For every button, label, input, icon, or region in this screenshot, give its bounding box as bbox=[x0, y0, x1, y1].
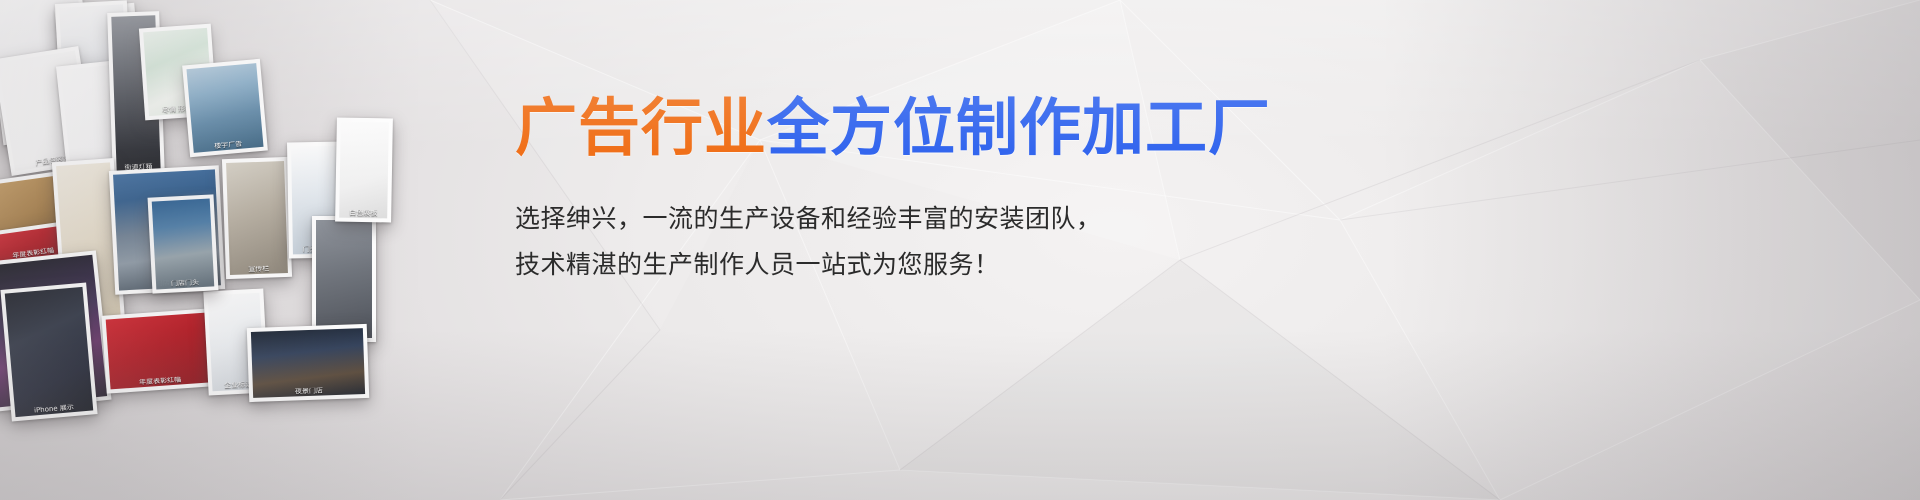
collage-photo-image bbox=[339, 122, 389, 219]
collage-photo: 年度表彰红幅 bbox=[101, 308, 214, 393]
collage-photo: 楼宇广告 bbox=[182, 59, 268, 157]
subtitle-line-1: 选择绅兴，一流的生产设备和经验丰富的安装团队， bbox=[515, 196, 1415, 242]
collage-photo-image bbox=[152, 199, 215, 290]
banner-subtitle: 选择绅兴，一流的生产设备和经验丰富的安装团队， 技术精湛的生产制作人员一站式为您… bbox=[515, 196, 1415, 289]
advertising-sample-photo-collage: 汽车 A6L 画册 汽车宣传册 A6L 精装版 产品包装盒 产品包装盒 街道灯箱… bbox=[0, 0, 430, 500]
collage-photo: 白色展板 bbox=[335, 118, 393, 223]
banner-copy: 广告行业全方位制作加工厂 选择绅兴，一流的生产设备和经验丰富的安装团队， 技术精… bbox=[515, 95, 1415, 288]
subtitle-line-2: 技术精湛的生产制作人员一站式为您服务！ bbox=[515, 242, 1415, 288]
headline-segment-orange: 广告行业 bbox=[515, 91, 767, 164]
collage-photo-image bbox=[316, 220, 372, 338]
collage-photo: 夜景门店 bbox=[247, 324, 370, 402]
collage-photo-caption: 宣传栏 bbox=[226, 265, 292, 275]
collage-photo-caption: 白色展板 bbox=[335, 210, 391, 219]
collage-photo: 宣传栏 bbox=[222, 157, 292, 279]
collage-photo-image bbox=[226, 161, 288, 275]
banner-headline: 广告行业全方位制作加工厂 bbox=[515, 95, 1415, 162]
headline-segment-blue: 全方位制作加工厂 bbox=[767, 91, 1271, 164]
collage-photo: iPhone 展示 bbox=[0, 283, 97, 422]
collage-photo-image bbox=[5, 287, 94, 417]
collage-photo: 门店门头 bbox=[148, 194, 219, 293]
promo-banner: 汽车 A6L 画册 汽车宣传册 A6L 精装版 产品包装盒 产品包装盒 街道灯箱… bbox=[0, 0, 1920, 500]
